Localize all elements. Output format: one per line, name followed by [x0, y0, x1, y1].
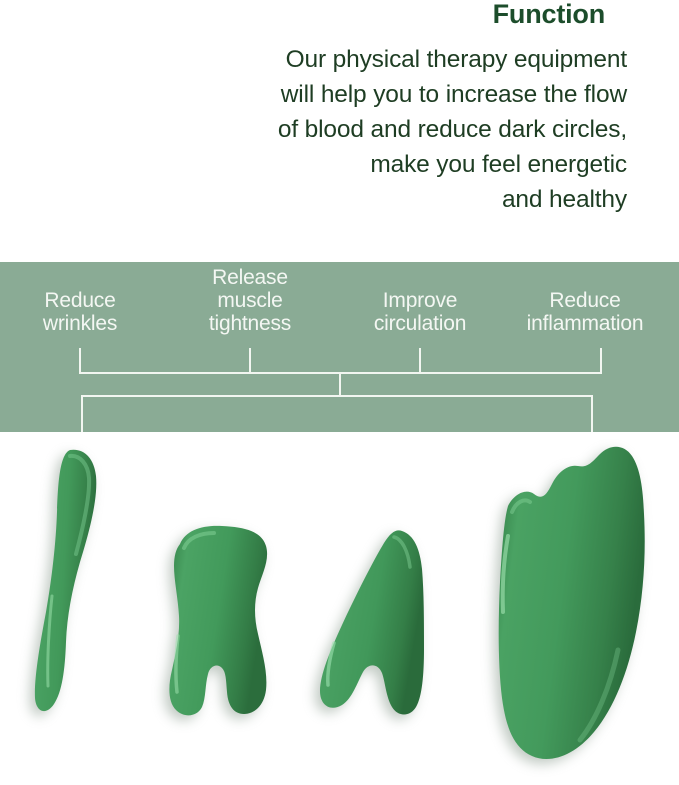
bracket-center-stem	[339, 372, 341, 397]
description-line-5: and healthy	[27, 182, 627, 217]
product-image-large-wing-gua-sha	[468, 440, 658, 770]
bracket-lower-rail	[81, 395, 593, 397]
product-photo-area	[0, 432, 679, 785]
product-infographic: Function Our physical therapy equipment …	[0, 0, 679, 785]
bracket-tick-circulation	[419, 348, 421, 374]
product-image-heart-shape-gua-sha	[310, 525, 445, 720]
description-line-4: make you feel energetic	[27, 147, 627, 182]
bracket-diagram	[0, 262, 679, 432]
bracket-tick-inflammation	[600, 348, 602, 374]
bracket-tick-muscle	[249, 348, 251, 374]
page-title: Function	[493, 0, 605, 31]
description-line-1: Our physical therapy equipment	[27, 42, 627, 77]
description-line-2: will help you to increase the flow	[27, 77, 627, 112]
description-paragraph: Our physical therapy equipment will help…	[27, 42, 627, 217]
bracket-lower-right-leg	[591, 395, 593, 432]
description-line-3: of blood and reduce dark circles,	[27, 112, 627, 147]
bracket-lower-left-leg	[81, 395, 83, 432]
bracket-tick-wrinkles	[79, 348, 81, 374]
product-image-curved-wand-gua-sha	[32, 446, 122, 716]
header-section: Function Our physical therapy equipment …	[0, 0, 679, 262]
feature-band: Reduce wrinkles Release muscle tightness…	[0, 262, 679, 432]
product-image-tooth-shape-gua-sha	[150, 522, 290, 722]
